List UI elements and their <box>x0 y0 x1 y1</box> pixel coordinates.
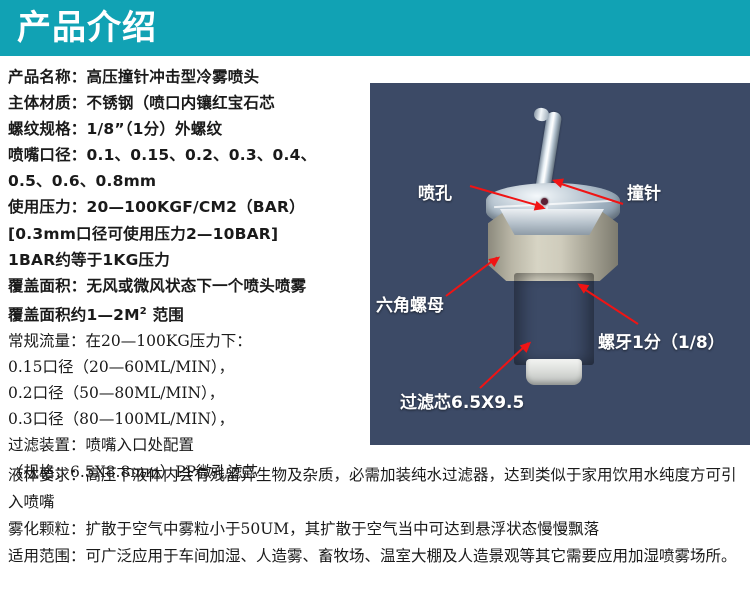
spec-line: 螺纹规格：1/8”（1分）外螺纹 <box>8 116 368 142</box>
paragraph-text: 雾化颗粒：扩散于空气中雾粒小于50UM，其扩散于空气当中可达到悬浮状态慢慢飘落 <box>8 516 744 543</box>
spec-line: 使用压力：20—100KGF/CM2（BAR） <box>8 194 368 220</box>
spec-line: [0.3mm口径可使用压力2—10BAR] <box>8 221 368 247</box>
spec-line: 产品名称：高压撞针冲击型冷雾喷头 <box>8 64 368 90</box>
spec-line: 0.15口径（20—60ML/MIN）， <box>8 354 368 380</box>
callout-label-thread-size: 螺牙1分（1/8） <box>598 328 725 353</box>
filter-core-shape <box>526 359 582 385</box>
page-title: 产品介绍 <box>17 5 157 51</box>
product-photo-panel: 喷孔 撞针 六角螺母 螺牙1分（1/8） 过滤芯6.5X9.5 <box>370 83 750 445</box>
spec-line: 1BAR约等于1KG压力 <box>8 247 368 273</box>
paragraph-text: 液体要求：高压下液体内会有残留异生物及杂质，必需加装纯水过滤器，达到类似于家用饮… <box>8 462 744 516</box>
spec-line: 过滤装置：喷嘴入口处配置 <box>8 432 368 458</box>
specification-list: 产品名称：高压撞针冲击型冷雾喷头 主体材质：不锈钢（喷口内镶红宝石芯 螺纹规格：… <box>8 64 368 485</box>
mist-particle-paragraph: 雾化颗粒：扩散于空气中雾粒小于50UM，其扩散于空气当中可达到悬浮状态慢慢飘落 <box>8 516 744 543</box>
spec-line: 0.5、0.6、0.8mm <box>8 168 368 194</box>
spec-line: 覆盖面积约1—2M2 范围 <box>8 299 368 328</box>
page-header-bar: 产品介绍 <box>0 0 750 56</box>
spec-line: 常规流量：在20—100KG压力下： <box>8 328 368 354</box>
spec-line: 喷嘴口径：0.1、0.15、0.2、0.3、0.4、 <box>8 142 368 168</box>
hex-nut-facet-shape <box>500 209 604 235</box>
spec-line: 覆盖面积：无风或微风状态下一个喷头喷雾 <box>8 273 368 299</box>
spec-line: 0.3口径（80—100ML/MIN）， <box>8 406 368 432</box>
paragraph-text: 适用范围：可广泛应用于车间加湿、人造雾、畜牧场、温室大棚及人造景观等其它需要应用… <box>8 543 744 570</box>
liquid-requirement-paragraph: 液体要求：高压下液体内会有残留异生物及杂质，必需加装纯水过滤器，达到类似于家用饮… <box>8 462 744 516</box>
callout-label-hex-nut: 六角螺母 <box>376 291 444 316</box>
callout-label-impact-pin: 撞针 <box>627 179 661 204</box>
callout-label-spray-orifice: 喷孔 <box>418 179 452 204</box>
spec-line: 主体材质：不锈钢（喷口内镶红宝石芯 <box>8 90 368 116</box>
spec-line: 0.2口径（50—80ML/MIN）， <box>8 380 368 406</box>
application-scope-paragraph: 适用范围：可广泛应用于车间加湿、人造雾、畜牧场、温室大棚及人造景观等其它需要应用… <box>8 543 744 570</box>
callout-label-filter-core: 过滤芯6.5X9.5 <box>400 388 524 413</box>
